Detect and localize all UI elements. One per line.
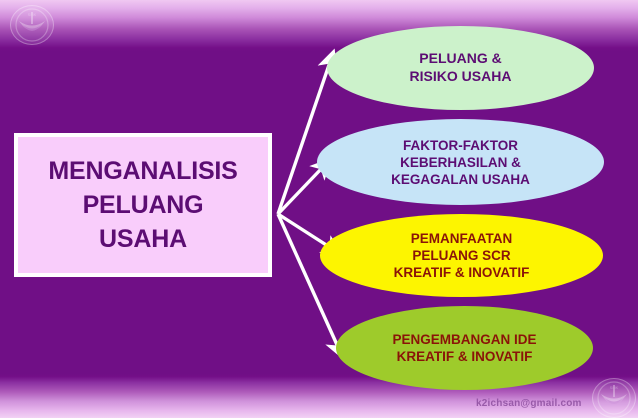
node-2-line-2: KEBERHASILAN & (400, 154, 521, 171)
node-faktor-keberhasilan-kegagalan[interactable]: FAKTOR-FAKTOR KEBERHASILAN & KEGAGALAN U… (317, 119, 604, 205)
node-2-line-1: FAKTOR-FAKTOR (403, 137, 518, 154)
node-3-line-3: KREATIF & INOVATIF (394, 264, 530, 281)
node-4-line-1: PENGEMBANGAN IDE (392, 331, 536, 348)
node-2-line-3: KEGAGALAN USAHA (391, 171, 530, 188)
node-pengembangan-ide[interactable]: PENGEMBANGAN IDE KREATIF & INOVATIF (336, 306, 593, 390)
node-3-line-2: PELUANG SCR (412, 247, 510, 264)
node-pemanfaatan-peluang[interactable]: PEMANFAATAN PELUANG SCR KREATIF & INOVAT… (320, 214, 603, 297)
email-watermark: k2ichsan@gmail.com (476, 398, 582, 409)
node-3-line-1: PEMANFAATAN (411, 230, 513, 247)
node-peluang-risiko-usaha[interactable]: PELUANG & RISIKO USAHA (327, 26, 594, 110)
main-topic-line-2: PELUANG (83, 189, 204, 222)
node-4-line-2: KREATIF & INOVATIF (397, 348, 533, 365)
main-topic-line-1: MENGANALISIS (48, 155, 237, 188)
node-1-line-1: PELUANG & (419, 50, 501, 68)
emblem-icon-bottom-right: SMK (592, 378, 636, 418)
svg-text:SMK: SMK (610, 385, 619, 390)
svg-text:SMK: SMK (28, 12, 37, 17)
main-topic-box: MENGANALISIS PELUANG USAHA (14, 133, 272, 277)
emblem-icon-top-left: SMK (10, 5, 54, 45)
node-1-line-2: RISIKO USAHA (410, 68, 512, 86)
main-topic-line-3: USAHA (99, 223, 187, 256)
slide-canvas: SMK SMK MENGANALISIS PELUANG USAHA (0, 0, 638, 418)
